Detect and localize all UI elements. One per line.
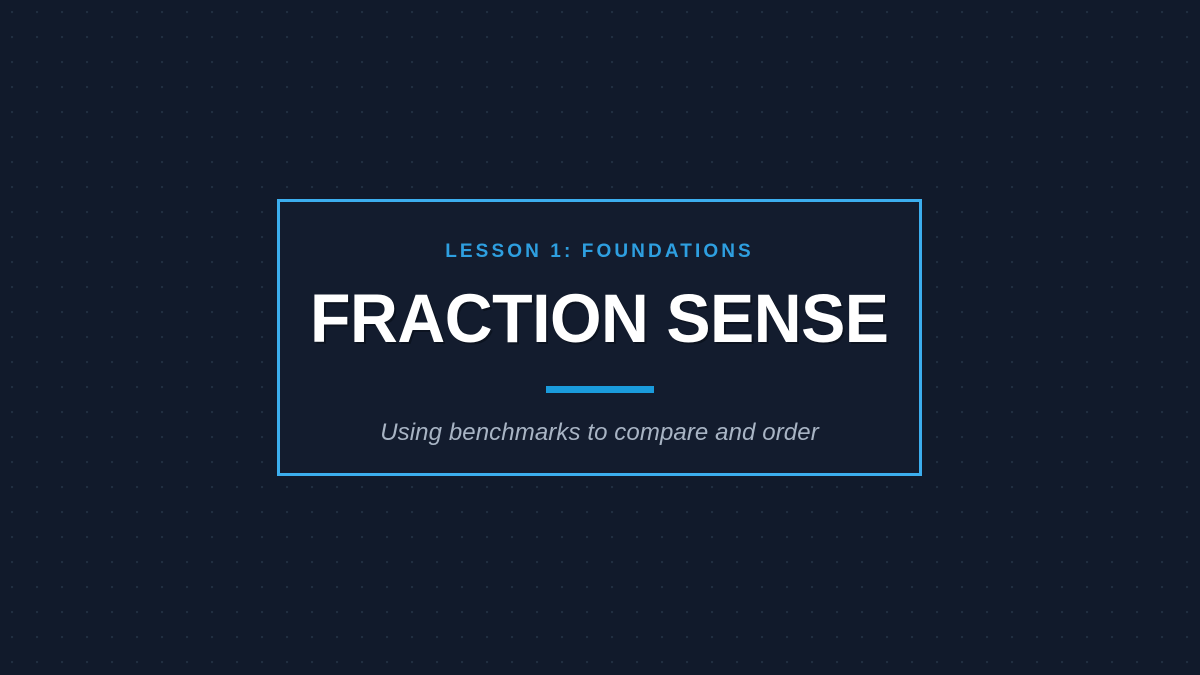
- page-title: FRACTION SENSE: [310, 284, 888, 353]
- subtitle-text: Using benchmarks to compare and order: [380, 420, 819, 446]
- lesson-eyebrow-label: LESSON 1: FOUNDATIONS: [445, 242, 754, 261]
- title-card: LESSON 1: FOUNDATIONS FRACTION SENSE Usi…: [277, 199, 922, 476]
- accent-divider: [546, 386, 654, 393]
- title-slide: LESSON 1: FOUNDATIONS FRACTION SENSE Usi…: [0, 0, 1200, 675]
